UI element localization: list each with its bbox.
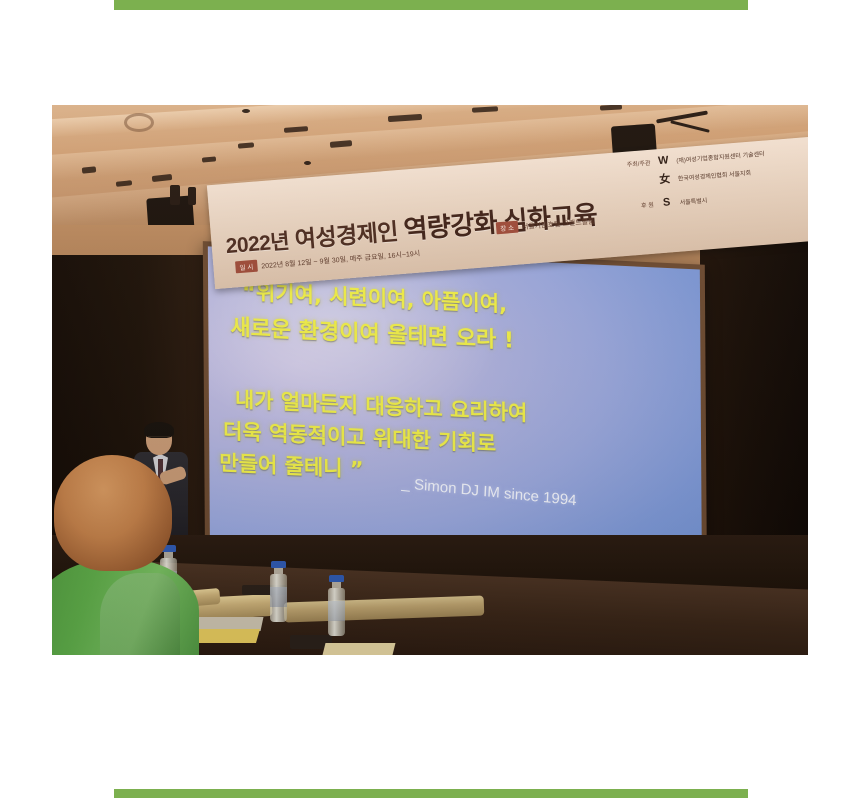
sponsor-name: 한국여성경제인협회 서울지회: [677, 167, 751, 182]
ceiling-light-slot: [116, 180, 132, 187]
bottle-cap: [329, 575, 344, 582]
water-bottle: [270, 561, 287, 622]
bottle-body: [270, 574, 287, 622]
banner-sponsor-logos: 주최/주관 W (재)여성기업종합지원센터 기술센터 女 한국여성경제인협회 서…: [626, 142, 808, 216]
bottle-label: [270, 587, 287, 607]
slide-quote-line-5: 만들어 줄테니 ”: [219, 447, 364, 484]
audience-hair: [54, 455, 172, 571]
banner-title-main: 여성경제인: [294, 218, 399, 252]
sponsor-name: 서울특별시: [679, 195, 707, 206]
ceiling-light-slot: [284, 126, 308, 133]
bottle-cap: [271, 561, 286, 568]
banner-date-chip: 일 시: [235, 260, 258, 274]
bottle-label: [328, 601, 345, 621]
sponsor-name: (재)여성기업종합지원센터 기술센터: [676, 148, 765, 164]
paper-sheet: [323, 643, 396, 655]
glasses-icon: [148, 436, 170, 442]
ceiling-light-slot: [388, 114, 422, 122]
water-bottle: [328, 575, 345, 636]
rig-mount: [188, 187, 196, 205]
ceiling-vent-icon: [124, 113, 154, 132]
sponsor-role: 주최/주관: [626, 157, 651, 168]
page-root: { "page": { "background_color": "#ffffff…: [0, 0, 860, 800]
sponsor-logo-icon: S: [658, 196, 675, 209]
sponsor-logo-icon: W: [655, 154, 672, 167]
bottle-body: [328, 588, 345, 636]
sponsor-role: 후 원: [629, 199, 654, 210]
rig-mount: [170, 185, 180, 205]
banner-place-chip: 장 소: [496, 221, 519, 235]
banner-title-year: 2022년: [225, 230, 290, 258]
audience-shoulder: [100, 573, 180, 655]
ceiling-spot-icon: [304, 161, 311, 165]
sponsor-logo-icon: 女: [656, 170, 673, 187]
ceiling-light-slot: [152, 174, 173, 182]
slide-attribution: _ Simon DJ IM since 1994: [401, 475, 577, 509]
ceiling-light-slot: [472, 106, 498, 112]
ceiling-spot-icon: [242, 109, 250, 113]
ceiling-light-slot: [600, 105, 622, 111]
top-green-rule: [114, 0, 748, 10]
bottom-green-rule: [114, 789, 748, 798]
seated-audience-member: [52, 455, 184, 655]
sponsor-role: [628, 180, 652, 182]
sponsor-row: 후 원 S 서울특별시: [629, 184, 808, 212]
conference-hall-photo: “위기여, 시련이여, 아픔이여, 새로운 환경이여 올테면 오라 ! 내가 얼…: [52, 105, 808, 655]
